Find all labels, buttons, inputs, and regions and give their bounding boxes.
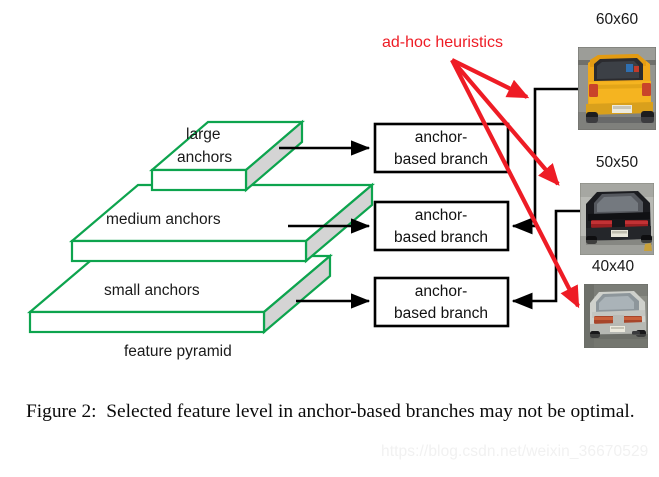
anchor-based-branch-3[interactable]: anchor- based branch bbox=[375, 278, 508, 326]
medium-anchors-label: medium anchors bbox=[106, 211, 221, 228]
connector-60x60-to-branch-2 bbox=[513, 89, 578, 226]
sample-image-60x60 bbox=[578, 47, 656, 130]
medium-anchors-front-face bbox=[72, 241, 306, 261]
small-anchors-label: small anchors bbox=[104, 282, 200, 299]
sample-image-40x40 bbox=[584, 284, 648, 348]
feature-pyramid-label: feature pyramid bbox=[124, 343, 232, 360]
large-anchors-label-line2: anchors bbox=[177, 149, 232, 166]
pyramid-level-large-anchors: large anchors bbox=[152, 122, 302, 190]
pyramid-level-medium-anchors: medium anchors bbox=[72, 185, 372, 261]
branch-3-label-line2: based branch bbox=[394, 305, 488, 322]
small-anchors-front-face bbox=[30, 312, 264, 332]
sample-3-size-label: 40x40 bbox=[592, 258, 635, 275]
sample-2-size-label: 50x50 bbox=[596, 154, 639, 171]
branch-3-label-line1: anchor- bbox=[415, 283, 468, 300]
figure-caption: Figure 2: Selected feature level in anch… bbox=[26, 398, 646, 426]
large-anchors-front-face bbox=[152, 170, 246, 190]
branch-1-label-line2: based branch bbox=[394, 151, 488, 168]
ad-hoc-heuristics-label: ad-hoc heuristics bbox=[382, 34, 503, 51]
branch-1-label-line1: anchor- bbox=[415, 129, 468, 146]
sample-1-size-label: 60x60 bbox=[596, 11, 639, 28]
anchor-based-branch-2[interactable]: anchor- based branch bbox=[375, 202, 508, 250]
branch-2-label-line2: based branch bbox=[394, 229, 488, 246]
large-anchors-label-line1: large bbox=[186, 126, 220, 143]
pyramid-level-small-anchors: small anchors bbox=[30, 256, 330, 332]
figure-page: small anchors medium anchors large ancho… bbox=[0, 0, 659, 477]
watermark: https://blog.csdn.net/weixin_36670529 bbox=[381, 443, 648, 461]
sample-image-50x50 bbox=[580, 183, 654, 255]
branch-2-label-line1: anchor- bbox=[415, 207, 468, 224]
